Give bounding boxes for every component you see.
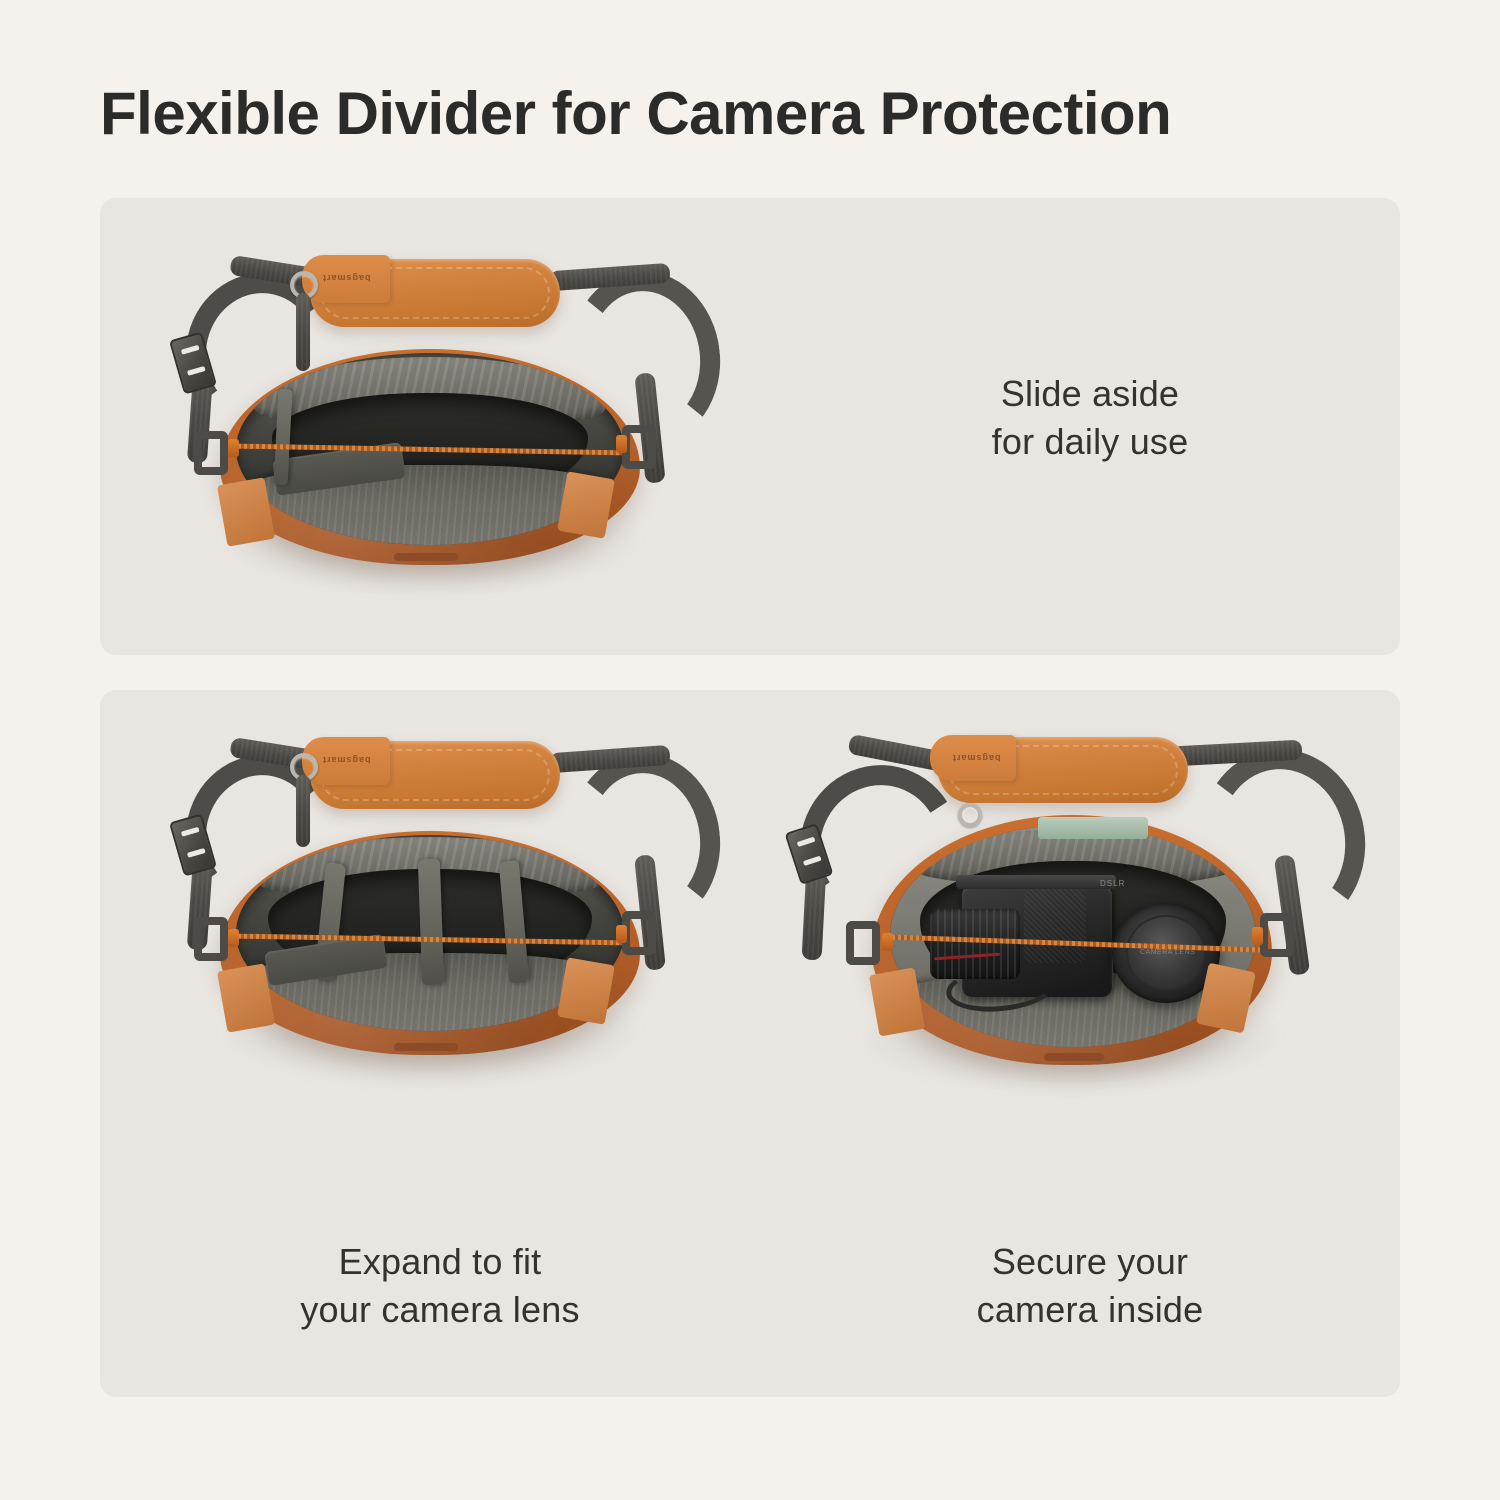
zipper-pull-left	[228, 929, 239, 947]
buckle-slot	[181, 827, 200, 837]
zipper-pull-right	[616, 435, 627, 453]
bag-base-tab	[1044, 1053, 1104, 1061]
bag-base-tab	[394, 553, 458, 561]
divider-panel-center	[418, 858, 444, 985]
buckle-slot	[181, 345, 200, 355]
caption-line: for daily use	[840, 418, 1340, 466]
camera-model-label: DSLR	[1100, 879, 1125, 888]
caption-line: Secure your	[830, 1238, 1350, 1286]
bag-corner-tab-right	[557, 957, 615, 1024]
strap-loop-right	[622, 425, 656, 469]
panel-slide-aside: bagsmart Slide aside for daily use	[100, 198, 1400, 655]
caption-line: camera inside	[830, 1286, 1350, 1334]
bag-base-tab	[394, 1043, 458, 1051]
bag-image-slide-aside: bagsmart	[170, 253, 730, 603]
strap-loop-right	[622, 911, 656, 955]
brand-logo-text: bagsmart	[322, 755, 371, 765]
bag-corner-tab-right	[557, 471, 615, 538]
strap-loop-left	[194, 917, 228, 961]
buckle-slot	[803, 856, 822, 866]
caption-slide-aside: Slide aside for daily use	[840, 370, 1340, 465]
strap-loop-right	[1260, 913, 1294, 957]
caption-line: your camera lens	[180, 1286, 700, 1334]
buckle-slot	[797, 837, 816, 847]
bag-image-with-camera: bagsmart DSLR CAMERA LENS	[790, 735, 1370, 1085]
caption-line: Expand to fit	[180, 1238, 700, 1286]
zipper-pull-right	[616, 925, 627, 943]
strap-loop-left	[194, 431, 228, 475]
panel-expand-and-secure: bagsmart	[100, 690, 1400, 1397]
caption-expand-to-fit: Expand to fit your camera lens	[180, 1238, 700, 1333]
zipper-pull-right	[1252, 927, 1263, 945]
zipper-pull-left	[882, 933, 893, 951]
brand-logo-text: bagsmart	[952, 753, 1001, 763]
buckle-slot	[187, 848, 206, 858]
strap-loop-left	[846, 921, 880, 965]
camera-grip	[1024, 889, 1086, 963]
caption-line: Slide aside	[840, 370, 1340, 418]
buckle-slot	[187, 366, 206, 376]
caption-secure-camera: Secure your camera inside	[830, 1238, 1350, 1333]
bag-image-expanded: bagsmart	[170, 735, 730, 1085]
zipper-pull-left	[228, 439, 239, 457]
page-title: Flexible Divider for Camera Protection	[100, 82, 1420, 145]
accessory-peek	[1038, 817, 1148, 839]
brand-logo-text: bagsmart	[322, 273, 371, 283]
camera-top-controls	[956, 875, 1116, 889]
lens-cap-text: CAMERA LENS	[1140, 949, 1195, 956]
